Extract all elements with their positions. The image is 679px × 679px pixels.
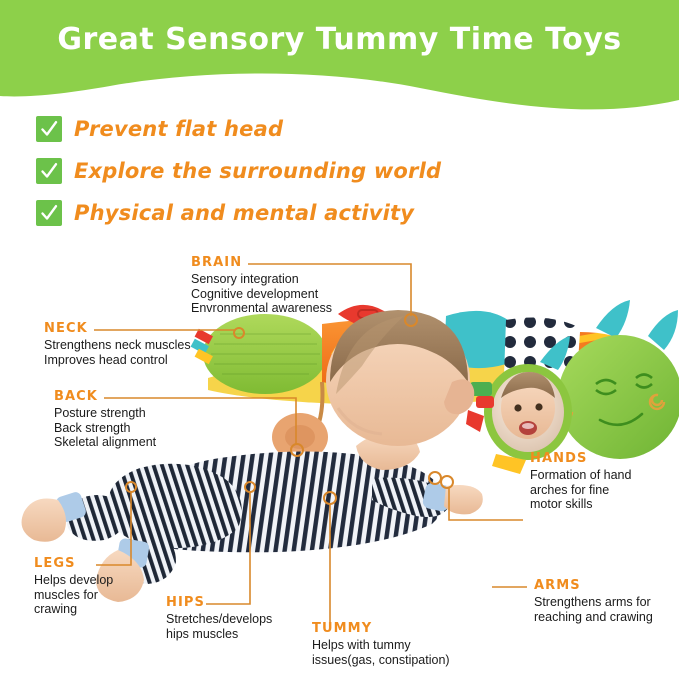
benefit-label-2: Explore the surrounding world xyxy=(74,159,441,183)
benefits-list: Prevent flat head Explore the surroundin… xyxy=(36,112,441,238)
callout-line: Posture strength xyxy=(54,406,156,421)
callout-line: hips muscles xyxy=(166,627,272,642)
callout-line: motor skills xyxy=(530,497,631,512)
callout-line: Strengthens arms for xyxy=(534,595,653,610)
callout-line: reaching and crawing xyxy=(534,610,653,625)
toy-horn xyxy=(648,310,678,350)
callout-line: Formation of hand xyxy=(530,468,631,483)
check-square-icon xyxy=(36,158,62,184)
callout-title-back: BACK xyxy=(54,390,156,404)
toy-mirror xyxy=(484,364,572,460)
callout-arms: ARMS Strengthens arms for reaching and c… xyxy=(534,579,653,624)
callout-hips: HIPS Stretches/develops hips muscles xyxy=(166,596,272,641)
callout-neck: NECK Strengthens neck muscles Improves h… xyxy=(44,322,191,367)
callout-title-tummy: TUMMY xyxy=(312,622,450,636)
callout-line: muscles for xyxy=(34,588,113,603)
callout-line: Strengthens neck muscles xyxy=(44,338,191,353)
infographic-canvas: Great Sensory Tummy Time Toys Prevent fl… xyxy=(0,0,679,679)
callout-legs: LEGS Helps develop muscles for crawing xyxy=(34,557,113,617)
callout-title-hips: HIPS xyxy=(166,596,272,610)
check-square-icon xyxy=(36,116,62,142)
toy-head xyxy=(558,335,679,459)
callout-line: issues(gas, constipation) xyxy=(312,653,450,668)
callout-title-legs: LEGS xyxy=(34,557,113,571)
callout-hands: HANDS Formation of hand arches for fine … xyxy=(530,452,631,512)
callout-line: arches for fine xyxy=(530,483,631,498)
callout-title-neck: NECK xyxy=(44,322,191,336)
callout-line: Helps with tummy xyxy=(312,638,450,653)
benefit-label-1: Prevent flat head xyxy=(74,117,283,141)
callout-line: Envronmental awareness xyxy=(191,301,332,316)
benefit-item-1: Prevent flat head xyxy=(36,112,441,145)
callout-line: Sensory integration xyxy=(191,272,332,287)
benefit-item-3: Physical and mental activity xyxy=(36,196,441,229)
callout-tummy: TUMMY Helps with tummy issues(gas, const… xyxy=(312,622,450,667)
callout-line: Improves head control xyxy=(44,353,191,368)
page-title: Great Sensory Tummy Time Toys xyxy=(0,22,679,57)
callout-back: BACK Posture strength Back strength Skel… xyxy=(54,390,156,450)
header-banner: Great Sensory Tummy Time Toys xyxy=(0,0,679,112)
callout-line: Cognitive development xyxy=(191,287,332,302)
check-square-icon xyxy=(36,200,62,226)
callout-line: Helps develop xyxy=(34,573,113,588)
callout-title-arms: ARMS xyxy=(534,579,653,593)
baby-foot-left xyxy=(22,499,66,542)
callout-title-brain: BRAIN xyxy=(191,256,332,270)
callout-line: Skeletal alignment xyxy=(54,435,156,450)
callout-line: Stretches/develops xyxy=(166,612,272,627)
benefit-label-3: Physical and mental activity xyxy=(74,201,414,225)
callout-line: Back strength xyxy=(54,421,156,436)
callout-title-hands: HANDS xyxy=(530,452,631,466)
mirror-baby-reflection xyxy=(501,372,555,439)
benefit-item-2: Explore the surrounding world xyxy=(36,154,441,187)
callout-brain: BRAIN Sensory integration Cognitive deve… xyxy=(191,256,332,316)
baby-hand-right xyxy=(444,485,483,514)
callout-line: crawing xyxy=(34,602,113,617)
